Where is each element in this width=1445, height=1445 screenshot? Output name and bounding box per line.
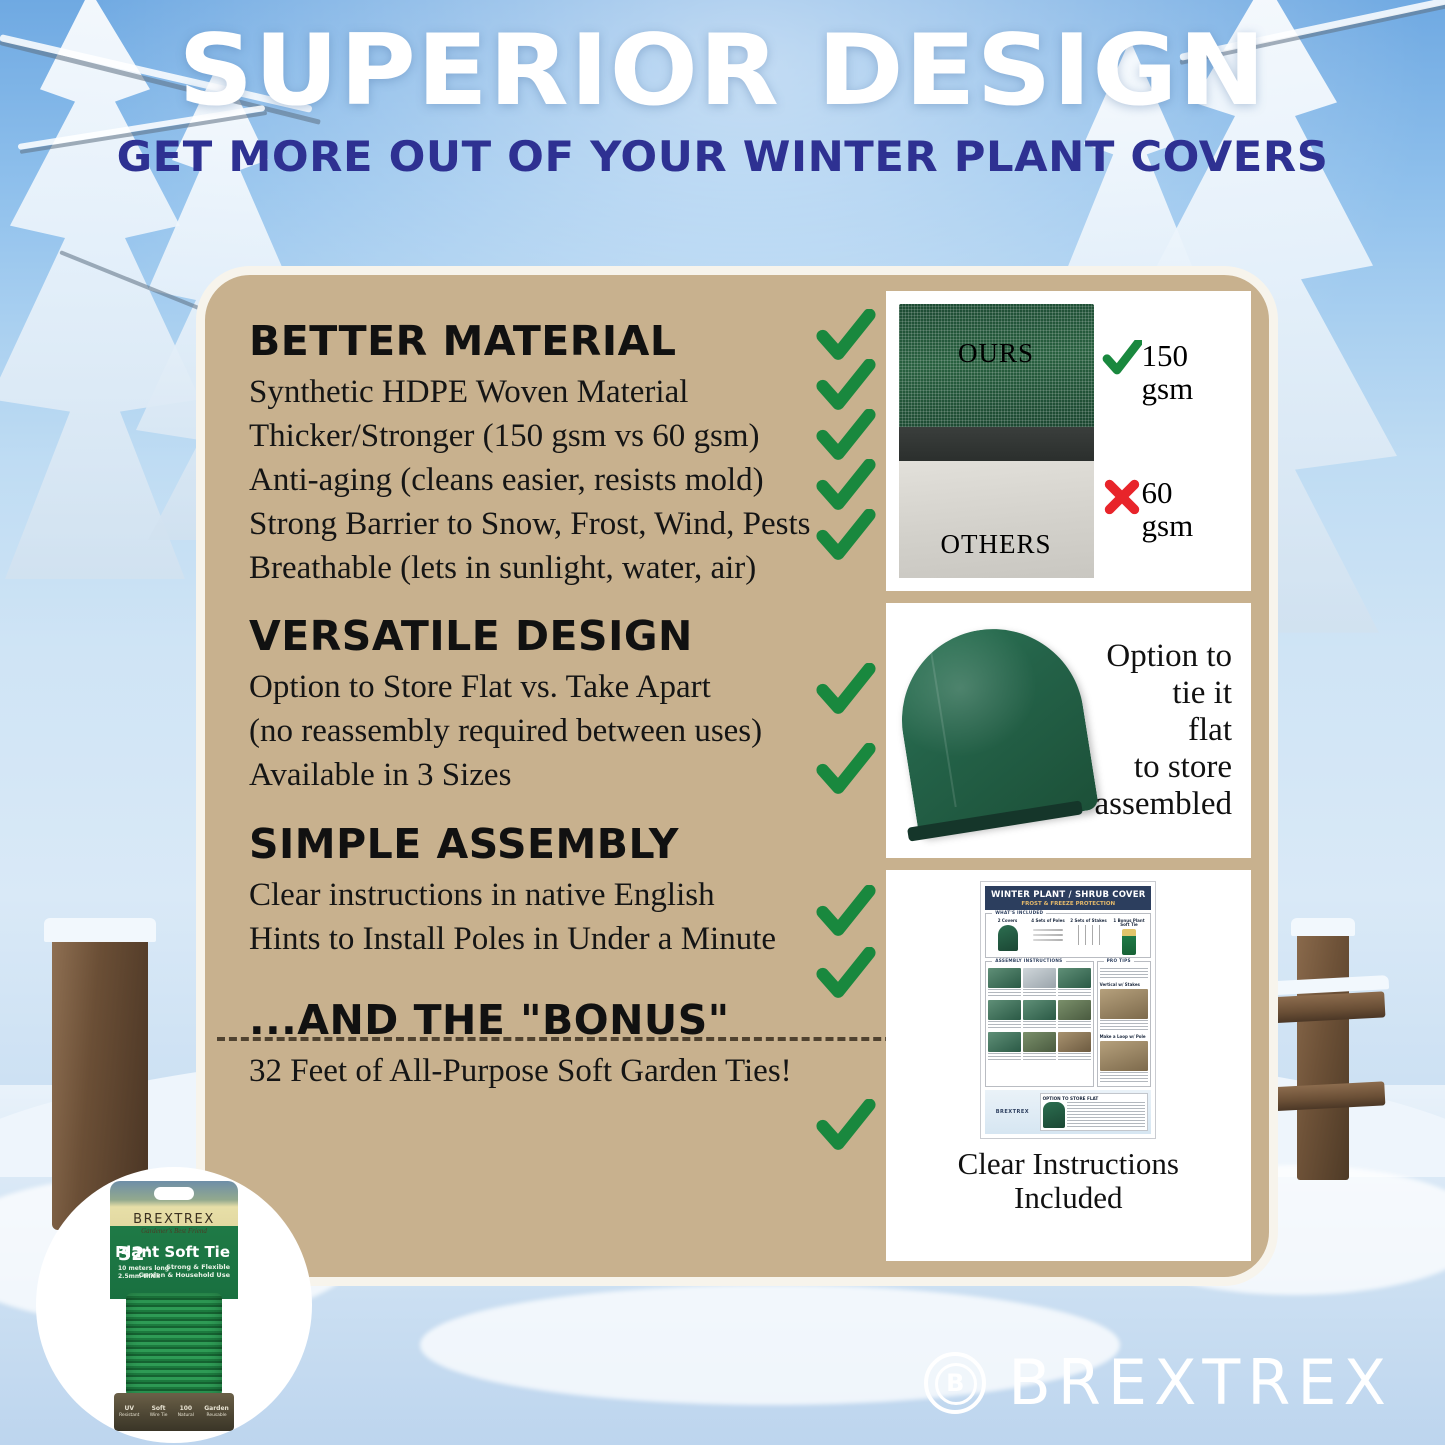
step-text bbox=[1023, 1053, 1056, 1062]
pro-tips-box: PRO TIPS Vertical w/ Stakes Make a Loop … bbox=[1097, 961, 1152, 1087]
green-check-icon bbox=[815, 743, 877, 805]
step-photo bbox=[988, 968, 1021, 988]
assembly-box: ASSEMBLY INSTRUCTIONS bbox=[985, 961, 1093, 1087]
tip-label: Make a Loop w/ Pole bbox=[1100, 1034, 1149, 1039]
tip-photo bbox=[1100, 989, 1149, 1019]
panel-store-flat: Option to tie it flat to store assembled bbox=[886, 603, 1251, 858]
package-footer-strip: UV Resistant Soft Wire Tie 100 Natural G… bbox=[114, 1393, 234, 1431]
soft-tie-icon bbox=[1122, 929, 1136, 955]
page-title: SUPERIOR DESIGN bbox=[0, 24, 1445, 118]
included-title: WHAT'S INCLUDED bbox=[992, 910, 1046, 915]
step-photo bbox=[1023, 1000, 1056, 1020]
gsm-number-ours: 150 bbox=[1142, 338, 1189, 373]
step-text bbox=[1023, 989, 1056, 998]
step-text bbox=[1023, 1021, 1056, 1030]
features-card: BETTER MATERIAL Synthetic HDPE Woven Mat… bbox=[196, 266, 1278, 1286]
step-photo bbox=[1058, 1032, 1091, 1052]
feature-big: Garden bbox=[204, 1405, 229, 1413]
section-title: VERSATILE DESIGN bbox=[249, 612, 811, 660]
feature-block-versatile-design: VERSATILE DESIGN Option to Store Flat vs… bbox=[249, 612, 811, 798]
step-text bbox=[1058, 989, 1091, 998]
cover-icon bbox=[998, 925, 1018, 951]
brextrex-logo-icon: B bbox=[924, 1352, 986, 1414]
included-label: 2 Sets of Stakes bbox=[1069, 919, 1108, 923]
caption-line: Clear Instructions bbox=[958, 1147, 1179, 1181]
gsm-value-others: 60gsm bbox=[1142, 477, 1194, 543]
caption-line: assembled bbox=[1095, 786, 1232, 823]
feature-line: Synthetic HDPE Woven Material bbox=[249, 371, 811, 415]
step-photo bbox=[1058, 968, 1091, 988]
snow-cap bbox=[1291, 918, 1355, 936]
header: SUPERIOR DESIGN GET MORE OUT OF YOUR WIN… bbox=[0, 24, 1445, 181]
feature-small: Reusable bbox=[207, 1413, 227, 1418]
green-check-icon bbox=[815, 1099, 877, 1161]
image-panels-column: OURS OTHERS 150gsm bbox=[880, 275, 1269, 1277]
package-brand: BREXTREX bbox=[110, 1212, 238, 1227]
step-photo bbox=[988, 1032, 1021, 1052]
feature-small: Wire Tie bbox=[150, 1413, 168, 1418]
step-photo bbox=[1058, 1000, 1091, 1020]
step-text bbox=[1058, 1021, 1091, 1030]
feature-big: Soft bbox=[150, 1405, 168, 1413]
feature-small: Natural bbox=[178, 1413, 194, 1418]
feature-line: Anti-aging (cleans easier, resists mold) bbox=[249, 459, 811, 503]
brand-monogram: B bbox=[928, 1369, 982, 1397]
gsm-number-others: 60 bbox=[1142, 475, 1173, 510]
panel-instructions: WINTER PLANT / SHRUB COVER FROST & FREEZ… bbox=[886, 870, 1251, 1261]
caption-line: flat bbox=[1095, 712, 1232, 749]
sheet-included-box: WHAT'S INCLUDED 2 Covers 4 Sets of Poles bbox=[985, 913, 1151, 958]
feature-big: UV bbox=[119, 1405, 139, 1413]
feature-block-better-material: BETTER MATERIAL Synthetic HDPE Woven Mat… bbox=[249, 317, 811, 590]
caption-line: Option to bbox=[1095, 638, 1232, 675]
store-flat-box: OPTION TO STORE FLAT bbox=[1040, 1093, 1149, 1131]
step-text bbox=[1058, 1053, 1091, 1062]
green-check-icon bbox=[815, 663, 877, 725]
caption-line: Included bbox=[958, 1181, 1179, 1215]
assembly-step bbox=[1023, 968, 1056, 998]
product-infographic: SUPERIOR DESIGN GET MORE OUT OF YOUR WIN… bbox=[0, 0, 1445, 1445]
tips-title: PRO TIPS bbox=[1104, 958, 1134, 963]
assembly-step bbox=[1058, 1000, 1091, 1030]
package-feature: 100 Natural bbox=[178, 1405, 194, 1419]
package-feature: Garden Reusable bbox=[204, 1405, 229, 1419]
included-item: 2 Sets of Stakes bbox=[1069, 919, 1108, 955]
poles-icon bbox=[1033, 925, 1063, 947]
included-label: 1 Bonus Plant Soft Tie bbox=[1110, 919, 1149, 927]
swatch-others: OTHERS bbox=[899, 461, 1094, 578]
gsm-unit-ours: gsm bbox=[1142, 371, 1194, 406]
hang-hole-icon bbox=[154, 1187, 194, 1200]
product-package-circle: BREXTREX Gardener's Best Friend 32' 10 m… bbox=[36, 1167, 312, 1443]
snow-cap bbox=[44, 918, 156, 942]
included-label: 4 Sets of Poles bbox=[1029, 919, 1068, 923]
assembly-steps bbox=[988, 968, 1090, 1062]
step-text bbox=[988, 989, 1021, 998]
sheet-brand: BREXTREX bbox=[988, 1109, 1036, 1115]
feature-line: Available in 3 Sizes bbox=[249, 754, 811, 798]
gsm-value-ours: 150gsm bbox=[1142, 340, 1194, 406]
stakes-icon bbox=[1076, 925, 1102, 949]
tips-body: Vertical w/ Stakes Make a Loop w/ Pole bbox=[1100, 968, 1149, 1084]
gsm-row-others: 60gsm bbox=[1102, 477, 1238, 543]
feature-line: Strong Barrier to Snow, Frost, Wind, Pes… bbox=[249, 503, 811, 547]
step-photo bbox=[1023, 1032, 1056, 1052]
feature-line: Hints to Install Poles in Under a Minute bbox=[249, 918, 811, 962]
assembly-step bbox=[988, 968, 1021, 998]
included-row: 2 Covers 4 Sets of Poles 2 Sets of Sta bbox=[988, 919, 1148, 955]
store-flat-photo bbox=[1043, 1102, 1065, 1128]
feature-line: (no reassembly required between uses) bbox=[249, 710, 811, 754]
assembly-step bbox=[1058, 1032, 1091, 1062]
feature-line: 32 Feet of All-Purpose Soft Garden Ties! bbox=[249, 1050, 811, 1094]
sheet-footer: BREXTREX OPTION TO STORE FLAT bbox=[985, 1090, 1151, 1134]
sub-line: Strong & Flexible bbox=[139, 1263, 230, 1271]
assembly-step bbox=[988, 1032, 1021, 1062]
swatch-shadow-gap bbox=[899, 427, 1094, 461]
gsm-row-ours: 150gsm bbox=[1102, 340, 1238, 406]
feature-block-simple-assembly: SIMPLE ASSEMBLY Clear instructions in na… bbox=[249, 820, 811, 962]
features-text-column: BETTER MATERIAL Synthetic HDPE Woven Mat… bbox=[205, 275, 811, 1277]
package-feature: UV Resistant bbox=[119, 1405, 139, 1419]
swatch-label-ours: OURS bbox=[899, 338, 1094, 369]
feature-big: 100 bbox=[178, 1405, 194, 1413]
section-title: SIMPLE ASSEMBLY bbox=[249, 820, 811, 868]
section-title: BETTER MATERIAL bbox=[249, 317, 811, 365]
green-check-icon bbox=[815, 509, 877, 571]
included-item: 2 Covers bbox=[988, 919, 1027, 955]
package-tagline: Gardener's Best Friend bbox=[110, 1227, 238, 1235]
package-subtext: Strong & Flexible Garden & Household Use bbox=[139, 1263, 230, 1280]
feature-small: Resistant bbox=[119, 1413, 139, 1418]
included-item: 1 Bonus Plant Soft Tie bbox=[1110, 919, 1149, 955]
green-check-icon bbox=[1102, 340, 1142, 384]
step-text bbox=[988, 1053, 1021, 1062]
tip-photo bbox=[1100, 1041, 1149, 1071]
green-tie-coil bbox=[126, 1293, 222, 1397]
sheet-header: WINTER PLANT / SHRUB COVER FROST & FREEZ… bbox=[985, 886, 1151, 910]
tip-label: Vertical w/ Stakes bbox=[1100, 982, 1149, 987]
step-text bbox=[988, 1021, 1021, 1030]
assembly-title: ASSEMBLY INSTRUCTIONS bbox=[992, 958, 1065, 963]
fabric-swatches: OURS OTHERS bbox=[899, 304, 1094, 578]
tips-paragraph bbox=[1100, 1072, 1149, 1084]
tips-paragraph bbox=[1100, 968, 1149, 980]
fence-post bbox=[1297, 930, 1349, 1180]
store-flat-title: OPTION TO STORE FLAT bbox=[1043, 1096, 1146, 1101]
gsm-comparison: 150gsm 60gsm bbox=[1100, 304, 1238, 578]
feature-line: Option to Store Flat vs. Take Apart bbox=[249, 666, 811, 710]
package-header-card: BREXTREX Gardener's Best Friend 32' 10 m… bbox=[110, 1181, 238, 1299]
red-cross-icon bbox=[1102, 477, 1142, 521]
assembly-step bbox=[1058, 968, 1091, 998]
page-subtitle: GET MORE OUT OF YOUR WINTER PLANT COVERS bbox=[0, 132, 1445, 181]
instruction-sheet-image: WINTER PLANT / SHRUB COVER FROST & FREEZ… bbox=[980, 881, 1156, 1139]
swatch-ours: OURS bbox=[899, 304, 1094, 427]
package-product-name: Plant Soft Tie bbox=[115, 1243, 230, 1261]
brand-footer: B BREXTREX bbox=[924, 1346, 1393, 1419]
store-flat-caption: Option to tie it flat to store assembled bbox=[1095, 638, 1238, 823]
store-flat-text bbox=[1067, 1102, 1146, 1128]
step-photo bbox=[1023, 968, 1056, 988]
feature-line: Thicker/Stronger (150 gsm vs 60 gsm) bbox=[249, 415, 811, 459]
feature-block-bonus: ...AND THE "BONUS" 32 Feet of All-Purpos… bbox=[249, 996, 811, 1094]
brand-wordmark: BREXTREX bbox=[1008, 1346, 1393, 1419]
sheet-subtitle: FROST & FREEZE PROTECTION bbox=[987, 901, 1149, 907]
feature-line: Clear instructions in native English bbox=[249, 874, 811, 918]
included-item: 4 Sets of Poles bbox=[1029, 919, 1068, 955]
assembly-step bbox=[1023, 1032, 1056, 1062]
green-check-icon bbox=[815, 947, 877, 1009]
caption-line: tie it bbox=[1095, 675, 1232, 712]
included-label: 2 Covers bbox=[988, 919, 1027, 923]
green-check-icon bbox=[815, 885, 877, 947]
sheet-title: WINTER PLANT / SHRUB COVER bbox=[987, 890, 1149, 900]
instructions-caption: Clear Instructions Included bbox=[958, 1147, 1179, 1215]
sub-line: Garden & Household Use bbox=[139, 1271, 230, 1279]
assembly-step bbox=[1023, 1000, 1056, 1030]
tips-paragraph bbox=[1100, 1020, 1149, 1032]
store-flat-row bbox=[1043, 1102, 1146, 1128]
checkmark-column bbox=[811, 275, 880, 1277]
caption-line: to store bbox=[1095, 749, 1232, 786]
package-feature: Soft Wire Tie bbox=[150, 1405, 168, 1419]
soft-tie-package: BREXTREX Gardener's Best Friend 32' 10 m… bbox=[110, 1181, 238, 1433]
swatch-label-others: OTHERS bbox=[899, 529, 1094, 560]
sheet-middle: ASSEMBLY INSTRUCTIONS bbox=[985, 961, 1151, 1087]
assembly-step bbox=[988, 1000, 1021, 1030]
feature-line: Breathable (lets in sunlight, water, air… bbox=[249, 547, 811, 591]
step-photo bbox=[988, 1000, 1021, 1020]
plant-cover-photo bbox=[899, 623, 1095, 838]
gsm-unit-others: gsm bbox=[1142, 508, 1194, 543]
panel-fabric-comparison: OURS OTHERS 150gsm bbox=[886, 291, 1251, 591]
